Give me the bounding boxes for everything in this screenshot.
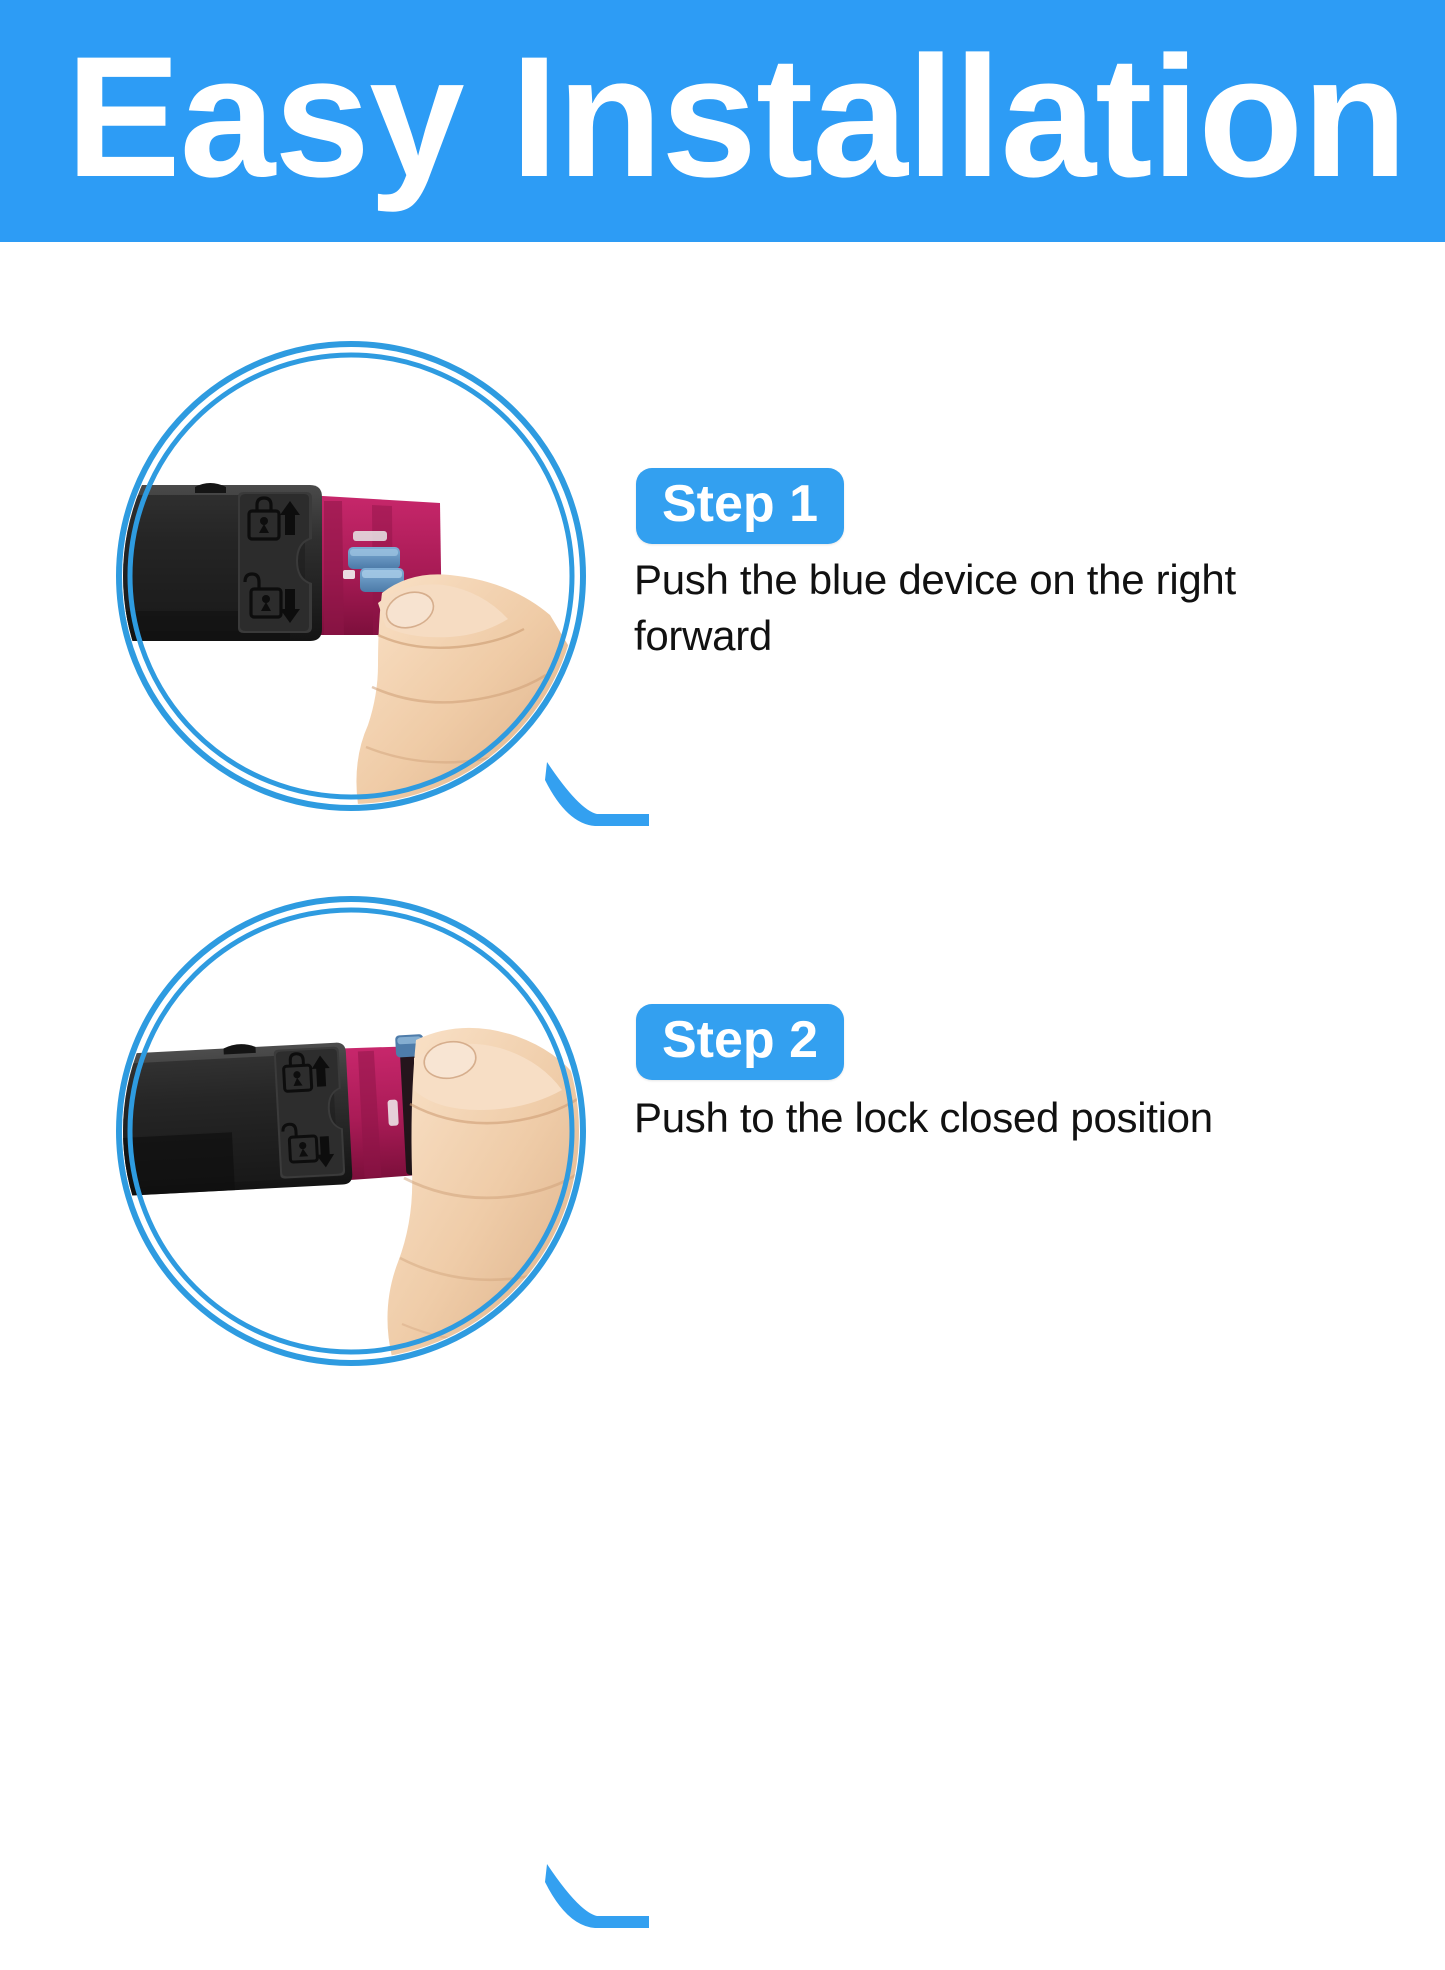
page-title: Easy Installation <box>66 28 1411 206</box>
step-1-photo-medallion <box>110 335 592 817</box>
step-1-badge: Step 1 <box>636 468 844 544</box>
step-2-description: Push to the lock closed position <box>634 1090 1354 1146</box>
step-2-badge: Step 2 <box>636 1004 844 1080</box>
step-2-photo-medallion <box>110 890 592 1372</box>
step-1-description: Push the blue device on the right forwar… <box>634 552 1344 664</box>
step-2-photo-content <box>110 890 592 1372</box>
header-banner: Easy Installation <box>0 0 1445 242</box>
step-1-photo-content <box>110 335 592 817</box>
step-2-connector <box>545 1860 675 1970</box>
